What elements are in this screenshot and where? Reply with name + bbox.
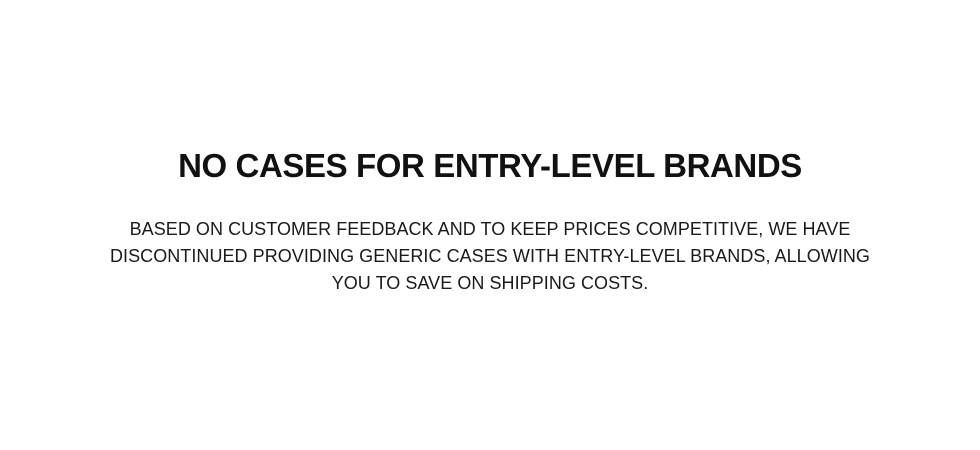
promo-body-line-2: DISCONTINUED PROVIDING GENERIC CASES WIT… bbox=[90, 243, 890, 270]
promo-body-text: BASED ON CUSTOMER FEEDBACK AND TO KEEP P… bbox=[90, 183, 890, 297]
promo-body-line-1: BASED ON CUSTOMER FEEDBACK AND TO KEEP P… bbox=[90, 216, 890, 243]
promo-heading: NO CASES FOR ENTRY-LEVEL BRANDS bbox=[178, 149, 802, 183]
promo-body-line-3: YOU TO SAVE ON SHIPPING COSTS. bbox=[90, 270, 890, 297]
promo-banner: NO CASES FOR ENTRY-LEVEL BRANDS BASED ON… bbox=[0, 0, 980, 450]
